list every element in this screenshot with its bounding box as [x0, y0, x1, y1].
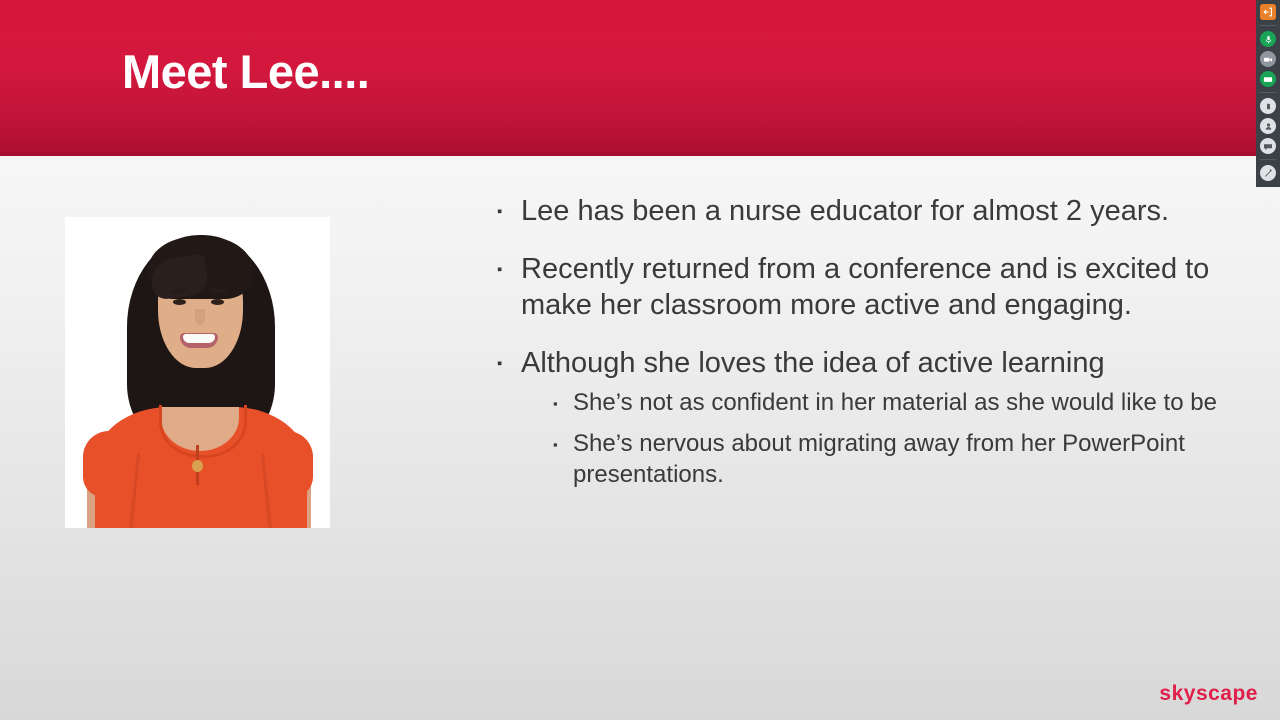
participants-icon[interactable]: [1260, 118, 1276, 134]
bullet-item: ▪ Lee has been a nurse educator for almo…: [497, 193, 1257, 229]
annotate-pencil-icon[interactable]: [1260, 165, 1276, 181]
lee-portrait-photo: [65, 217, 330, 528]
sub-bullet-group: ▪ She’s not as confident in her material…: [497, 387, 1257, 490]
camera-icon[interactable]: [1260, 51, 1276, 67]
bullet-marker-icon: ▪: [497, 345, 521, 371]
bullet-text: Lee has been a nurse educator for almost…: [521, 193, 1257, 229]
bullet-text: Recently returned from a conference and …: [521, 251, 1257, 323]
presentation-slide: Meet Lee.... ▪ Lee has been a nurse educ…: [0, 0, 1280, 720]
chat-icon[interactable]: [1260, 138, 1276, 154]
photo-eye-left: [173, 299, 186, 305]
sub-bullet-item: ▪ She’s nervous about migrating away fro…: [553, 428, 1257, 490]
slide-body-text: ▪ Lee has been a nurse educator for almo…: [497, 193, 1257, 500]
bullet-marker-icon: ▪: [497, 251, 521, 277]
photo-zipper-pull: [192, 460, 203, 472]
header-underline: [0, 152, 1280, 156]
skyscape-logo: skyscape: [1159, 682, 1258, 706]
toolbar-divider: [1260, 159, 1276, 160]
bullet-marker-icon: ▪: [497, 193, 521, 219]
toolbar-divider: [1260, 92, 1276, 93]
leave-meeting-icon[interactable]: [1260, 4, 1276, 20]
bullet-marker-icon: ▪: [553, 428, 573, 451]
slide-title: Meet Lee....: [122, 46, 369, 98]
bullet-text: Although she loves the idea of active le…: [521, 345, 1257, 381]
sub-bullet-text: She’s not as confident in her material a…: [573, 387, 1257, 418]
photo-eye-right: [211, 299, 224, 305]
photo-nose: [195, 309, 205, 325]
bullet-marker-icon: ▪: [553, 387, 573, 410]
share-screen-icon[interactable]: [1260, 71, 1276, 87]
record-icon[interactable]: [1260, 98, 1276, 114]
sub-bullet-item: ▪ She’s not as confident in her material…: [553, 387, 1257, 418]
microphone-icon[interactable]: [1260, 31, 1276, 47]
photo-teeth: [183, 334, 215, 343]
slide-header-band: Meet Lee....: [0, 0, 1280, 156]
photo-sleeve-left: [83, 431, 141, 497]
bullet-item: ▪ Recently returned from a conference an…: [497, 251, 1257, 323]
sub-bullet-text: She’s nervous about migrating away from …: [573, 428, 1257, 490]
meeting-toolbar[interactable]: [1256, 0, 1280, 187]
toolbar-divider: [1260, 25, 1276, 26]
bullet-item: ▪ Although she loves the idea of active …: [497, 345, 1257, 381]
